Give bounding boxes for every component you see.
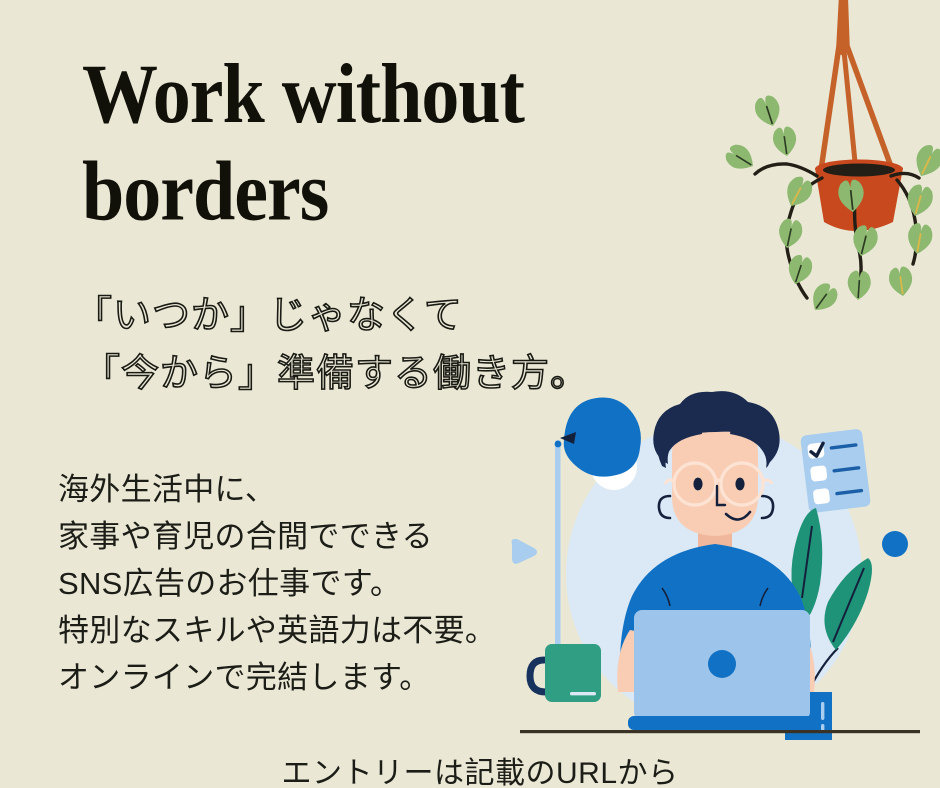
checklist-card (800, 428, 871, 513)
headline-line-1: Work without (82, 46, 702, 144)
body-line-4: 特別なスキルや英語力は不要。 (58, 607, 496, 654)
eye-left (693, 478, 702, 491)
hanging-plant-illustration (725, 0, 940, 310)
accent-circle-blue (882, 531, 908, 557)
body-line-2: 家事や育児の合間でできる (58, 513, 496, 560)
eye-right (735, 478, 744, 491)
accent-triangle (512, 539, 537, 564)
body-line-3: SNS広告のお仕事です。 (58, 560, 496, 607)
page-title: Work without borders (82, 46, 702, 242)
footer-cta-text: エントリーは記載のURLから (0, 748, 940, 788)
desk-scene-illustration (502, 392, 940, 752)
subheading: 「いつか」じゃなくて 「今から」準備する働き方。 (74, 288, 589, 404)
laptop-logo (708, 650, 736, 678)
desk-line (520, 730, 920, 733)
poster-canvas: Work without borders 「いつか」じゃなくて 「今から」準備す… (0, 0, 940, 788)
headline-line-2: borders (82, 144, 702, 242)
planter-rope-group (821, 0, 893, 172)
body-line-1: 海外生活中に、 (58, 466, 496, 513)
coffee-mug (530, 644, 601, 702)
body-copy: 海外生活中に、 家事や育児の合間でできる SNS広告のお仕事です。 特別なスキル… (58, 466, 496, 702)
subheading-line-1: 「いつか」じゃなくて (74, 288, 589, 346)
laptop (628, 610, 816, 730)
body-line-5: オンラインで完結します。 (58, 654, 496, 701)
